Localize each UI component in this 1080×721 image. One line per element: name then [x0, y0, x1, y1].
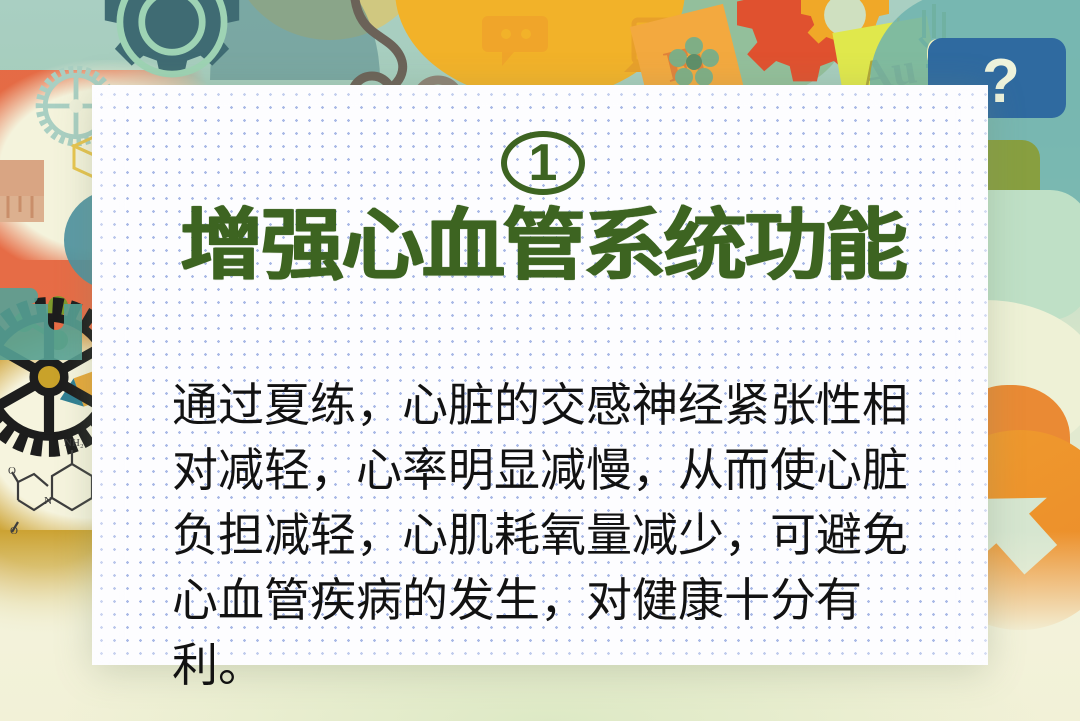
- svg-text:N: N: [44, 495, 52, 507]
- speech-bubble-icon: [480, 10, 550, 70]
- body-paragraph: 通过夏练，心脏的交感神经紧张性相对减轻，心率明显减慢，从而使心脏负担减轻，心肌耗…: [170, 373, 916, 698]
- svg-text:O: O: [8, 465, 16, 477]
- step-number-badge: 1: [501, 131, 585, 195]
- flower-icon: [668, 36, 720, 88]
- content-card: 1 增强心血管系统功能 通过夏练，心脏的交感神经紧张性相对减轻，心率明显减慢，从…: [92, 85, 988, 665]
- infographic-poster: NH₂ N O N O O √x Fr Au: [0, 0, 1080, 721]
- svg-text:NH₂: NH₂: [64, 437, 84, 449]
- page-title: 增强心血管系统功能: [180, 207, 905, 287]
- ruler-icon: [0, 150, 102, 260]
